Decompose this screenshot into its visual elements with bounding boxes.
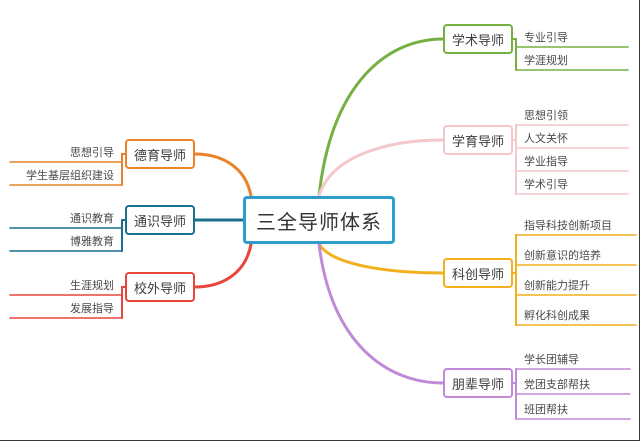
connector	[319, 244, 443, 273]
leaf-node[interactable]: 学生基层组织建设	[10, 163, 120, 185]
leaf-node[interactable]: 学术引导	[518, 172, 628, 194]
branch-node-label: 朋辈导师	[452, 374, 504, 393]
connector	[195, 154, 251, 196]
connector	[195, 244, 251, 287]
connector	[319, 39, 443, 196]
branch-node-label: 通识导师	[134, 211, 186, 230]
branch-node-label: 校外导师	[134, 278, 186, 297]
leaf-node-label: 发展指导	[70, 300, 114, 316]
leaf-node-label: 学生基层组织建设	[26, 167, 114, 183]
leaf-node-label: 博雅教育	[70, 233, 114, 249]
branch-node-label: 科创导师	[452, 264, 504, 283]
leaf-node[interactable]: 学长团辅导	[518, 347, 630, 369]
leaf-node[interactable]: 专业引导	[518, 25, 628, 47]
leaf-node-label: 学术引导	[524, 176, 568, 192]
leaf-node-label: 党团支部帮扶	[524, 376, 590, 392]
leaf-node[interactable]: 学业指导	[518, 149, 628, 171]
leaf-node-label: 学涯规划	[524, 52, 568, 68]
branch-node-label: 德育导师	[134, 145, 186, 164]
branch-node-kechuang[interactable]: 科创导师	[443, 258, 513, 288]
leaf-node[interactable]: 人文关怀	[518, 126, 628, 148]
branch-node-dey[interactable]: 德育导师	[125, 139, 195, 169]
leaf-node[interactable]: 孵化科创成果	[518, 303, 636, 325]
leaf-node[interactable]: 生涯规划	[10, 273, 120, 295]
leaf-node[interactable]: 思想引导	[10, 140, 120, 162]
branch-node-tongshi[interactable]: 通识导师	[125, 205, 195, 235]
connector	[319, 140, 443, 196]
leaf-node[interactable]: 班团帮扶	[518, 397, 630, 419]
connector	[319, 244, 443, 383]
leaf-node-label: 思想引领	[524, 107, 568, 123]
leaf-node[interactable]: 指导科技创新项目	[518, 213, 636, 235]
leaf-node-label: 思想引导	[70, 144, 114, 160]
leaf-node-label: 专业引导	[524, 29, 568, 45]
branch-node-pengbei[interactable]: 朋辈导师	[443, 368, 513, 398]
root-node[interactable]: 三全导师体系	[243, 196, 395, 244]
leaf-node-label: 创新意识的培养	[524, 247, 601, 263]
leaf-node[interactable]: 创新意识的培养	[518, 243, 636, 265]
branch-node-label: 学育导师	[452, 131, 504, 150]
leaf-node[interactable]: 学涯规划	[518, 48, 628, 70]
leaf-node-label: 学长团辅导	[524, 351, 579, 367]
leaf-node-label: 通识教育	[70, 210, 114, 226]
mindmap-canvas: 三全导师体系德育导师思想引导学生基层组织建设通识导师通识教育博雅教育校外导师生涯…	[0, 0, 640, 441]
leaf-node[interactable]: 发展指导	[10, 296, 120, 318]
leaf-node-label: 指导科技创新项目	[524, 217, 612, 233]
leaf-node-label: 孵化科创成果	[524, 307, 590, 323]
leaf-node-label: 创新能力提升	[524, 277, 590, 293]
branch-node-xueshu[interactable]: 学术导师	[443, 24, 513, 54]
leaf-node[interactable]: 通识教育	[10, 206, 120, 228]
leaf-node[interactable]: 党团支部帮扶	[518, 372, 630, 394]
leaf-node-label: 班团帮扶	[524, 401, 568, 417]
root-node-label: 三全导师体系	[256, 206, 382, 235]
leaf-node-label: 学业指导	[524, 153, 568, 169]
branch-node-xueyu[interactable]: 学育导师	[443, 125, 513, 155]
leaf-node[interactable]: 创新能力提升	[518, 273, 636, 295]
leaf-node-label: 人文关怀	[524, 130, 568, 146]
branch-node-label: 学术导师	[452, 30, 504, 49]
leaf-node[interactable]: 博雅教育	[10, 229, 120, 251]
branch-node-xiaowai[interactable]: 校外导师	[125, 272, 195, 302]
leaf-node[interactable]: 思想引领	[518, 103, 628, 125]
leaf-node-label: 生涯规划	[70, 277, 114, 293]
